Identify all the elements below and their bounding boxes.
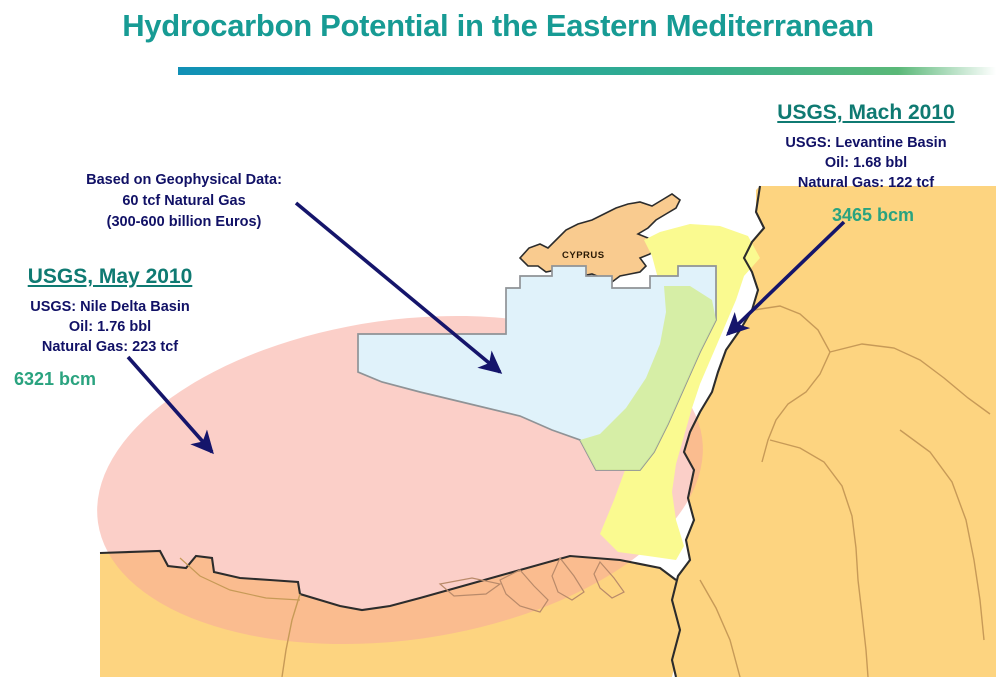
cyprus-island-label: CYPRUS [562,250,605,261]
geophysical-line-2: 60 tcf Natural Gas [68,191,300,212]
annotation-usgs-may-2010: USGS, May 2010 USGS: Nile Delta Basin Oi… [4,262,216,393]
slide-canvas: CYPRUS Hydrocarbon Potential in the East… [0,0,996,677]
annotation-usgs-mach-2010: USGS, Mach 2010 USGS: Levantine Basin Oi… [740,98,992,229]
usgs-may-line-3: Natural Gas: 223 tcf [4,337,216,357]
page-title: Hydrocarbon Potential in the Eastern Med… [0,8,996,44]
usgs-mach-line-3: Natural Gas: 122 tcf [740,173,992,193]
geophysical-line-3: (300-600 billion Euros) [68,212,300,233]
usgs-mach-heading: USGS, Mach 2010 [740,98,992,128]
title-divider-bar [178,67,996,75]
usgs-mach-bcm-value: 3465 bcm [740,201,992,229]
geophysical-line-1: Based on Geophysical Data: [68,170,300,191]
usgs-mach-line-1: USGS: Levantine Basin [740,133,992,153]
usgs-may-line-1: USGS: Nile Delta Basin [4,297,216,317]
usgs-may-line-2: Oil: 1.76 bbl [4,317,216,337]
usgs-mach-line-2: Oil: 1.68 bbl [740,153,992,173]
annotation-geophysical-data: Based on Geophysical Data: 60 tcf Natura… [68,170,300,233]
usgs-may-bcm-value: 6321 bcm [4,365,216,393]
usgs-may-heading: USGS, May 2010 [4,262,216,292]
